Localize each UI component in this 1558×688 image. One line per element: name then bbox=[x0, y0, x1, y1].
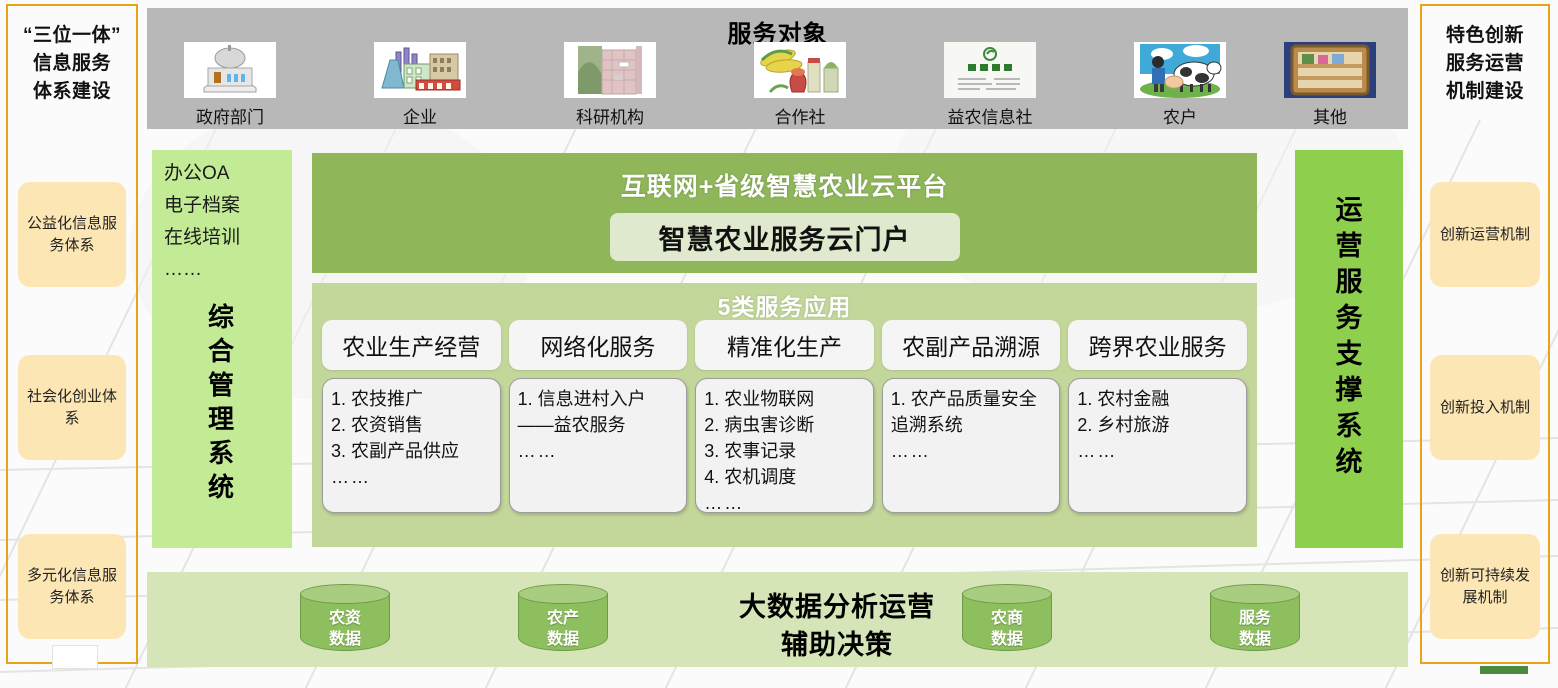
service-object-government[interactable]: 政府部门 bbox=[155, 42, 305, 128]
management-title-char: 合 bbox=[152, 334, 292, 368]
service-object-label: 政府部门 bbox=[155, 103, 305, 128]
cloud-platform-title: 互联网+省级智慧农业云平台 bbox=[312, 153, 1257, 203]
app-head-label[interactable]: 农副产品溯源 bbox=[882, 320, 1061, 370]
support-title-char: 服 bbox=[1295, 264, 1403, 300]
app-item: 1. 农产品质量安全追溯系统 bbox=[891, 386, 1054, 438]
service-object-farmer[interactable]: 农户 bbox=[1105, 42, 1255, 128]
right-panel-title-line-3: 机制建设 bbox=[1422, 78, 1548, 106]
service-applications-row: 农业生产经营 1. 农技推广 2. 农资销售 3. 农副产品供应 …… 网络化服… bbox=[322, 320, 1247, 513]
left-panel-title-line-1: “三位一体” bbox=[8, 22, 136, 50]
cylinder-label: 农商 数据 bbox=[962, 608, 1052, 650]
right-panel: 特色创新 服务运营 机制建设 创新运营机制 创新投入机制 创新可持续发展机制 bbox=[1420, 4, 1550, 664]
right-panel-title-line-2: 服务运营 bbox=[1422, 50, 1548, 78]
app-column-product-traceability: 农副产品溯源 1. 农产品质量安全追溯系统 …… bbox=[882, 320, 1061, 513]
app-body: 1. 农业物联网 2. 病虫害诊断 3. 农事记录 4. 农机调度 …… bbox=[695, 378, 874, 513]
bigdata-title: 大数据分析运营 辅助决策 bbox=[677, 588, 997, 664]
research-institute-icon bbox=[564, 42, 656, 98]
app-item: 1. 信息进村入户——益农服务 bbox=[518, 386, 681, 438]
support-title-char: 系 bbox=[1295, 408, 1403, 444]
management-title-char: 管 bbox=[152, 368, 292, 402]
cylinder-top bbox=[962, 584, 1052, 604]
cylinder-label: 服务 数据 bbox=[1210, 608, 1300, 650]
app-column-crossover-service: 跨界农业服务 1. 农村金融 2. 乡村旅游 …… bbox=[1068, 320, 1247, 513]
farmer-cow-icon bbox=[1134, 42, 1226, 98]
left-panel-title-line-2: 信息服务 bbox=[8, 50, 136, 78]
app-column-agricultural-production: 农业生产经营 1. 农技推广 2. 农资销售 3. 农副产品供应 …… bbox=[322, 320, 501, 513]
management-title-char: 系 bbox=[152, 436, 292, 470]
app-item: 2. 乡村旅游 bbox=[1077, 412, 1240, 438]
factory-icon bbox=[374, 42, 466, 98]
app-item: 3. 农事记录 bbox=[704, 438, 867, 464]
support-title-char: 务 bbox=[1295, 300, 1403, 336]
cylinder-label-line: 数据 bbox=[518, 629, 608, 650]
app-head-label[interactable]: 网络化服务 bbox=[509, 320, 688, 370]
app-more-dots: …… bbox=[331, 464, 494, 490]
app-item: 3. 农副产品供应 bbox=[331, 438, 494, 464]
right-panel-bottom-nub bbox=[1480, 666, 1528, 674]
cylinder-label-line: 数据 bbox=[1210, 629, 1300, 650]
service-object-other[interactable]: 其他 bbox=[1255, 42, 1405, 128]
app-item: 2. 病虫害诊断 bbox=[704, 412, 867, 438]
left-panel: “三位一体” 信息服务 体系建设 公益化信息服务体系 社会化创业体系 多元化信息… bbox=[6, 4, 138, 664]
service-object-yinong-station[interactable]: 益农信息社 bbox=[915, 42, 1065, 128]
app-item: 2. 农资销售 bbox=[331, 412, 494, 438]
shelf-other-icon bbox=[1284, 42, 1376, 98]
support-title-char: 支 bbox=[1295, 336, 1403, 372]
right-panel-chip-investment-mechanism[interactable]: 创新投入机制 bbox=[1430, 355, 1540, 460]
app-item: 1. 农技推广 bbox=[331, 386, 494, 412]
management-item: 办公OA bbox=[164, 158, 292, 190]
service-object-label: 科研机构 bbox=[535, 103, 685, 128]
left-panel-chip-social-entrepreneurship[interactable]: 社会化创业体系 bbox=[18, 355, 126, 460]
support-title-char: 运 bbox=[1295, 192, 1403, 228]
service-object-label: 企业 bbox=[345, 103, 495, 128]
app-more-dots: …… bbox=[704, 490, 867, 513]
bigdata-title-line-1: 大数据分析运营 bbox=[677, 588, 997, 626]
data-cylinder-agri-commerce[interactable]: 农商 数据 bbox=[962, 584, 1052, 656]
management-title-char: 统 bbox=[152, 470, 292, 504]
cylinder-top bbox=[518, 584, 608, 604]
cylinder-label-line: 服务 bbox=[1210, 608, 1300, 629]
management-item-list: 办公OA 电子档案 在线培训 …… bbox=[152, 150, 292, 286]
government-building-icon bbox=[184, 42, 276, 98]
app-item: 4. 农机调度 bbox=[704, 464, 867, 490]
cylinder-label-line: 农资 bbox=[300, 608, 390, 629]
app-head-label[interactable]: 精准化生产 bbox=[695, 320, 874, 370]
service-object-label: 益农信息社 bbox=[915, 103, 1065, 128]
management-title-char: 综 bbox=[152, 300, 292, 334]
app-head-label[interactable]: 跨界农业服务 bbox=[1068, 320, 1247, 370]
app-item: 1. 农业物联网 bbox=[704, 386, 867, 412]
left-panel-bottom-nub bbox=[52, 645, 98, 669]
app-body: 1. 农产品质量安全追溯系统 …… bbox=[882, 378, 1061, 513]
service-applications-panel: 5类服务应用 农业生产经营 1. 农技推广 2. 农资销售 3. 农副产品供应 … bbox=[312, 283, 1257, 547]
operation-support-title: 运 营 服 务 支 撑 系 统 bbox=[1295, 150, 1403, 480]
data-cylinder-service[interactable]: 服务 数据 bbox=[1210, 584, 1300, 656]
service-applications-title: 5类服务应用 bbox=[312, 283, 1257, 322]
cloud-portal-button[interactable]: 智慧农业服务云门户 bbox=[610, 213, 960, 261]
management-title-char: 理 bbox=[152, 402, 292, 436]
app-column-precision-production: 精准化生产 1. 农业物联网 2. 病虫害诊断 3. 农事记录 4. 农机调度 … bbox=[695, 320, 874, 513]
service-object-label: 农户 bbox=[1105, 103, 1255, 128]
cylinder-label: 农资 数据 bbox=[300, 608, 390, 650]
app-head-label[interactable]: 农业生产经营 bbox=[322, 320, 501, 370]
bigdata-title-line-2: 辅助决策 bbox=[677, 626, 997, 664]
yinong-info-station-icon bbox=[944, 42, 1036, 98]
bigdata-analytics-band: 大数据分析运营 辅助决策 农资 数据 农产 数据 农商 数据 bbox=[147, 572, 1408, 667]
cloud-platform-header: 互联网+省级智慧农业云平台 智慧农业服务云门户 bbox=[312, 153, 1257, 273]
cylinder-top bbox=[300, 584, 390, 604]
right-panel-title: 特色创新 服务运营 机制建设 bbox=[1422, 6, 1548, 106]
cylinder-label-line: 农产 bbox=[518, 608, 608, 629]
left-panel-title: “三位一体” 信息服务 体系建设 bbox=[8, 6, 136, 106]
management-item: 在线培训 bbox=[164, 222, 292, 254]
app-body: 1. 农技推广 2. 农资销售 3. 农副产品供应 …… bbox=[322, 378, 501, 513]
right-panel-chip-sustainable-mechanism[interactable]: 创新可持续发展机制 bbox=[1430, 534, 1540, 639]
app-body: 1. 农村金融 2. 乡村旅游 …… bbox=[1068, 378, 1247, 513]
service-object-cooperative[interactable]: 合作社 bbox=[725, 42, 875, 128]
operation-support-column: 运 营 服 务 支 撑 系 统 bbox=[1295, 150, 1403, 548]
service-objects-bar: 服务对象 政府部门 bbox=[147, 8, 1408, 129]
cylinder-top bbox=[1210, 584, 1300, 604]
left-panel-chip-diversified-info[interactable]: 多元化信息服务体系 bbox=[18, 534, 126, 639]
management-item: …… bbox=[164, 254, 292, 286]
management-column-title: 综 合 管 理 系 统 bbox=[152, 300, 292, 504]
cylinder-label: 农产 数据 bbox=[518, 608, 608, 650]
cylinder-label-line: 数据 bbox=[962, 629, 1052, 650]
data-cylinder-agri-output[interactable]: 农产 数据 bbox=[518, 584, 608, 656]
right-panel-title-line-1: 特色创新 bbox=[1422, 22, 1548, 50]
cylinder-label-line: 数据 bbox=[300, 629, 390, 650]
service-object-research[interactable]: 科研机构 bbox=[535, 42, 685, 128]
support-title-char: 营 bbox=[1295, 228, 1403, 264]
comprehensive-management-column: 办公OA 电子档案 在线培训 …… 综 合 管 理 系 统 bbox=[152, 150, 292, 548]
left-panel-title-line-3: 体系建设 bbox=[8, 78, 136, 106]
app-item: 1. 农村金融 bbox=[1077, 386, 1240, 412]
data-cylinder-agri-inputs[interactable]: 农资 数据 bbox=[300, 584, 390, 656]
app-column-networked-service: 网络化服务 1. 信息进村入户——益农服务 …… bbox=[509, 320, 688, 513]
service-object-label: 合作社 bbox=[725, 103, 875, 128]
left-panel-chip-public-welfare[interactable]: 公益化信息服务体系 bbox=[18, 182, 126, 287]
right-panel-chip-operation-mechanism[interactable]: 创新运营机制 bbox=[1430, 182, 1540, 287]
support-title-char: 统 bbox=[1295, 444, 1403, 480]
app-more-dots: …… bbox=[891, 438, 1054, 464]
cooperative-produce-icon bbox=[754, 42, 846, 98]
support-title-char: 撑 bbox=[1295, 372, 1403, 408]
app-more-dots: …… bbox=[518, 438, 681, 464]
app-more-dots: …… bbox=[1077, 438, 1240, 464]
cylinder-label-line: 农商 bbox=[962, 608, 1052, 629]
management-item: 电子档案 bbox=[164, 190, 292, 222]
service-object-label: 其他 bbox=[1255, 103, 1405, 128]
app-body: 1. 信息进村入户——益农服务 …… bbox=[509, 378, 688, 513]
service-object-enterprise[interactable]: 企业 bbox=[345, 42, 495, 128]
